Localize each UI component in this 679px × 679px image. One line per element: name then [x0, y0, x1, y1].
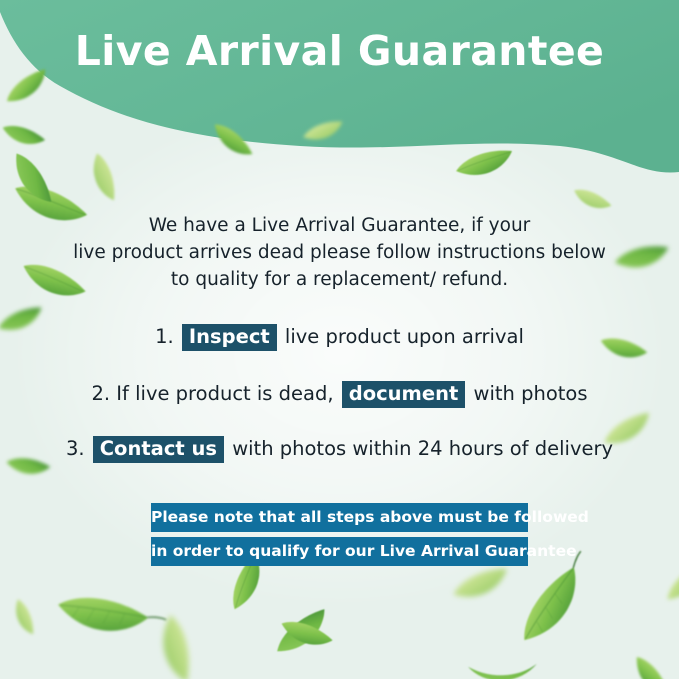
intro-paragraph: We have a Live Arrival Guarantee, if you… [64, 212, 615, 293]
step-1-number: 1. [155, 325, 174, 348]
intro-line-3: to quality for a replacement/ refund. [64, 266, 615, 293]
step-1-highlight[interactable]: Inspect [182, 324, 277, 351]
step-2-text-after: with photos [474, 382, 588, 405]
intro-line-1: We have a Live Arrival Guarantee, if you… [64, 212, 615, 239]
content-area: We have a Live Arrival Guarantee, if you… [0, 0, 679, 679]
step-2-text-before: If live product is dead, [116, 382, 333, 405]
step-3-text: with photos within 24 hours of delivery [232, 437, 613, 460]
step-3-number: 3. [66, 437, 85, 460]
intro-line-2: live product arrives dead please follow … [64, 239, 615, 266]
step-1: 1. Inspect live product upon arrival [0, 324, 679, 351]
step-2-highlight[interactable]: document [342, 381, 466, 408]
step-3: 3. Contact us with photos within 24 hour… [0, 436, 679, 463]
step-2: 2. If live product is dead, document wit… [0, 381, 679, 408]
note-banner-line-1: Please note that all steps above must be… [151, 503, 528, 532]
note-banner-line-2: in order to qualify for our Live Arrival… [151, 537, 528, 566]
live-arrival-guarantee-poster: Live Arrival Guarantee [0, 0, 679, 679]
step-1-text: live product upon arrival [285, 325, 524, 348]
step-2-number: 2. [91, 382, 110, 405]
step-3-highlight[interactable]: Contact us [93, 436, 224, 463]
